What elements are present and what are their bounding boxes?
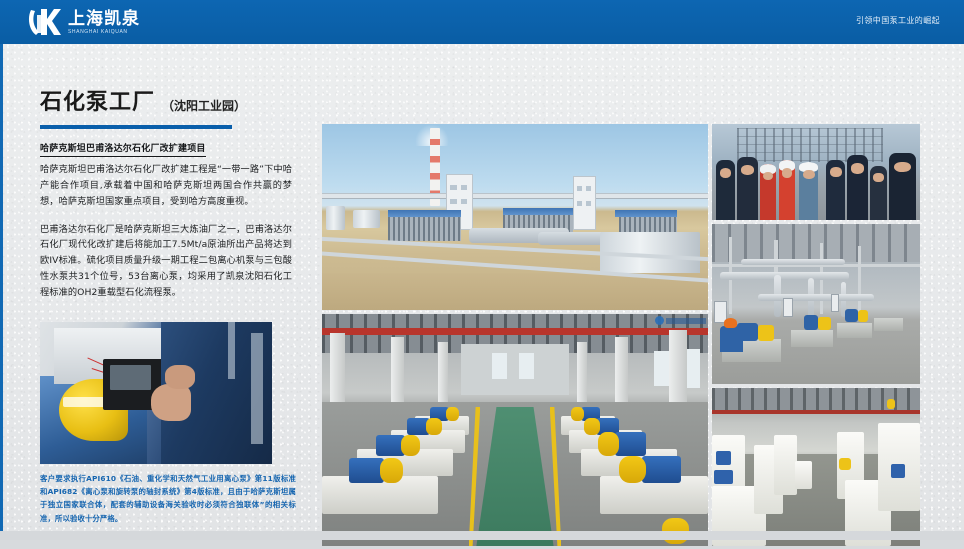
bottom-divider xyxy=(0,531,964,540)
header-slogan: 引领中国泵工业的崛起 xyxy=(856,15,940,26)
white-pump-assembly-hall-photo xyxy=(712,388,920,546)
left-accent-rule xyxy=(0,44,3,540)
page-title-main: 石化泵工厂 xyxy=(40,84,155,116)
photo-grid xyxy=(322,124,920,546)
pump-assembly-aisle-photo xyxy=(322,314,708,546)
logo-text-cn: 上海凯泉 xyxy=(68,9,140,29)
page-header: 上海凯泉 SHANGHAI KAIQUAN 引领中国泵工业的崛起 xyxy=(0,0,964,44)
kaiquan-k-mark-icon xyxy=(28,6,62,38)
pump-room-piping-photo xyxy=(712,224,920,384)
page-title-sub: （沈阳工业园） xyxy=(162,97,246,116)
technician-testing-pump-motor-photo xyxy=(40,322,272,464)
delegation-site-visit-photo xyxy=(712,124,920,220)
text-column: 石化泵工厂 （沈阳工业园） 哈萨克斯坦巴甫洛达尔石化厂改扩建项目 哈萨克斯坦巴甫… xyxy=(40,84,292,301)
slide-page: 上海凯泉 SHANGHAI KAIQUAN 引领中国泵工业的崛起 石化泵工厂 （… xyxy=(0,0,964,549)
page-title: 石化泵工厂 （沈阳工业园） xyxy=(40,84,292,116)
paragraph-1: 哈萨克斯坦巴甫洛达尔石化厂改扩建工程是“一带一路”下中哈产能合作项目,承载着中国… xyxy=(40,162,292,209)
paragraph-2: 巴甫洛达尔石化厂是哈萨克斯坦三大炼油厂之一，巴甫洛达尔石化厂现代化改扩建后将能加… xyxy=(40,222,292,301)
title-underline xyxy=(40,125,232,129)
photo-caption: 客户要求执行API610《石油、重化学和天然气工业用离心泵》第11版标准和API… xyxy=(40,472,296,525)
project-lead-heading: 哈萨克斯坦巴甫洛达尔石化厂改扩建项目 xyxy=(40,143,206,157)
petrochemical-plant-aerial-photo xyxy=(322,124,708,310)
brand-logo[interactable]: 上海凯泉 SHANGHAI KAIQUAN xyxy=(28,6,140,38)
logo-text-en: SHANGHAI KAIQUAN xyxy=(68,29,140,35)
kaiquan-watermark-icon xyxy=(655,316,706,325)
slide-canvas: 石化泵工厂 （沈阳工业园） 哈萨克斯坦巴甫洛达尔石化厂改扩建项目 哈萨克斯坦巴甫… xyxy=(0,44,964,540)
